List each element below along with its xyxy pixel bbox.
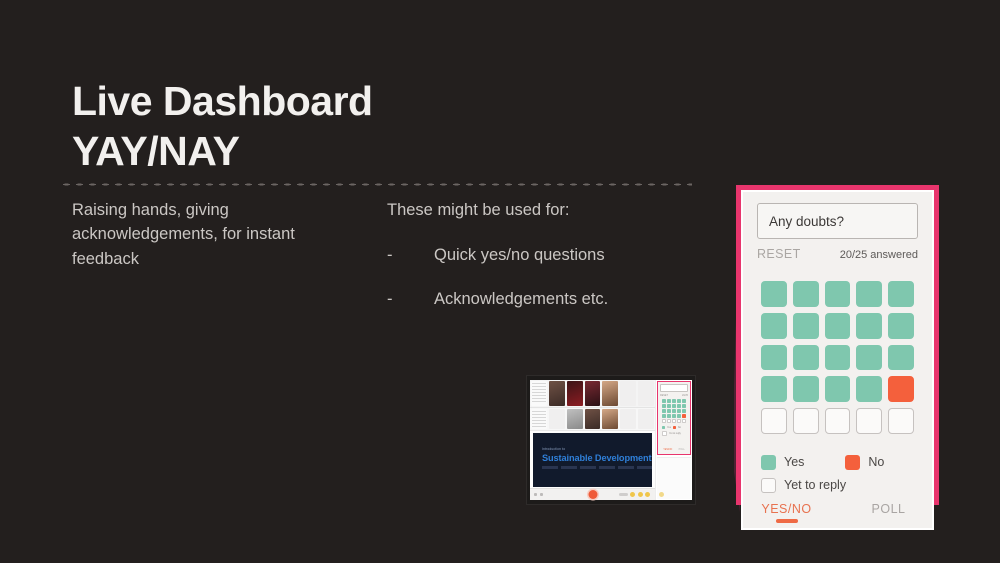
left-paragraph: Raising hands, giving acknowledgements, … (72, 198, 322, 271)
participant-thumbnail (585, 381, 601, 406)
response-cell-yes (856, 281, 882, 307)
response-cell-yes (856, 345, 882, 371)
label-chip (619, 493, 628, 496)
response-cell-yes (793, 345, 819, 371)
thumbnail-placeholder (549, 409, 565, 429)
participant-thumbnail (585, 409, 601, 429)
inset-response-cell (662, 399, 666, 403)
inset-response-cell (672, 419, 676, 423)
inset-response-cell (677, 409, 681, 413)
middle-heading: These might be used for: (387, 198, 647, 222)
response-cell-yes (888, 345, 914, 371)
tab-yes-no[interactable]: YES/NO (752, 502, 822, 516)
bullet-list: - Quick yes/no questions - Acknowledgeme… (387, 244, 647, 312)
inset-response-cell (682, 409, 686, 413)
toolbar-right-icons (619, 492, 651, 497)
inset-legend-swatch-yes (662, 426, 665, 429)
inset-panel-meta: RESET 20/25 (660, 394, 688, 397)
inset-response-cell (682, 414, 686, 418)
response-cell-yes (793, 313, 819, 339)
response-cell-yes (793, 281, 819, 307)
reset-button[interactable]: RESET (757, 247, 801, 261)
page-title: Live Dashboard YAY/NAY (72, 76, 692, 176)
dashboard-panel-inner: Any doubts? RESET 20/25 answered (741, 190, 934, 530)
inset-legend-row: Yes No (662, 426, 686, 429)
participant-thumbnail (602, 409, 618, 429)
legend-item-yes: Yes (761, 455, 804, 470)
legend-item-no: No (845, 455, 884, 470)
response-cell-yes (761, 313, 787, 339)
shared-slide-headline: Sustainable Development (542, 453, 652, 463)
inset-response-cell (677, 414, 681, 418)
shared-slide-subtext (542, 466, 652, 469)
inset-response-cell (667, 414, 671, 418)
tab-active-indicator (776, 519, 798, 523)
inset-legend-label: No (678, 426, 681, 429)
emoji-icon[interactable] (659, 492, 664, 497)
inset-question-input[interactable] (660, 384, 688, 392)
meeting-toolbar[interactable] (530, 488, 655, 500)
response-cell-yes (793, 376, 819, 402)
inset-tab-poll[interactable]: POLL (679, 448, 685, 451)
bullet-label: Quick yes/no questions (434, 244, 605, 268)
thumbnail-placeholder (638, 409, 654, 429)
inset-legend-swatch-pending (662, 431, 667, 436)
legend-label-pending: Yet to reply (784, 478, 846, 492)
response-cell-pending (761, 408, 787, 434)
meeting-sidebar: RESET 20/25 (655, 380, 692, 500)
question-input[interactable]: Any doubts? (757, 203, 918, 239)
response-cell-yes (825, 345, 851, 371)
inset-legend-swatch-no (673, 426, 676, 429)
meeting-sidebar-chat (657, 457, 691, 499)
bullet-label: Acknowledgements etc. (434, 288, 608, 312)
reaction-icon[interactable] (630, 492, 635, 497)
live-dashboard-panel: Any doubts? RESET 20/25 answered (736, 185, 939, 505)
inset-legend-row: Yet to reply (662, 431, 686, 436)
slide-root: Live Dashboard YAY/NAY Raising hands, gi… (0, 0, 1000, 563)
left-column: Raising hands, giving acknowledgements, … (72, 198, 322, 271)
reaction-icon[interactable] (638, 492, 643, 497)
meeting-body: Introduction to Sustainable Development (530, 380, 692, 500)
inset-response-cell (662, 404, 666, 408)
mic-icon[interactable] (534, 493, 537, 496)
bullet-marker: - (387, 288, 434, 312)
legend-item-pending: Yet to reply (761, 478, 846, 493)
inset-response-cell (662, 419, 666, 423)
inset-response-cell (677, 399, 681, 403)
meeting-screenshot-inset: Introduction to Sustainable Development (527, 376, 695, 504)
response-cell-pending (825, 408, 851, 434)
participant-thumbnail (567, 409, 583, 429)
meeting-window: Introduction to Sustainable Development (530, 380, 692, 500)
inset-legend-label: Yes (667, 426, 671, 429)
inset-legend-label: Yet to reply (669, 432, 681, 435)
shared-slide-kicker: Introduction to (542, 447, 565, 451)
response-cell-pending (888, 408, 914, 434)
legend-swatch-pending (761, 478, 776, 493)
tab-yes-no-label: YES/NO (761, 502, 811, 516)
response-cell-yes (856, 376, 882, 402)
dotted-divider (60, 183, 692, 186)
thumbnail-doc (531, 409, 547, 429)
record-button[interactable] (588, 490, 597, 499)
inset-response-cell (667, 409, 671, 413)
legend-label-yes: Yes (784, 455, 804, 469)
shared-slide: Introduction to Sustainable Development (533, 433, 652, 487)
legend-swatch-no (845, 455, 860, 470)
thumbnail-placeholder (620, 409, 636, 429)
response-grid (761, 281, 914, 434)
response-cell-yes (761, 281, 787, 307)
inset-response-cell (672, 404, 676, 408)
response-cell-yes (888, 281, 914, 307)
bullet-marker: - (387, 244, 434, 268)
response-cell-pending (793, 408, 819, 434)
dashboard-meta-row: RESET 20/25 answered (757, 247, 918, 261)
inset-tab-yes-no[interactable]: YES/NO (663, 448, 672, 451)
participant-thumbnail (567, 381, 583, 406)
inset-response-cell (667, 399, 671, 403)
legend: Yes No Yet to reply (761, 455, 914, 501)
inset-response-cell (662, 409, 666, 413)
inset-dashboard-panel[interactable]: RESET 20/25 (657, 381, 691, 455)
reaction-icon[interactable] (645, 492, 650, 497)
inset-response-cell (682, 399, 686, 403)
inset-response-cell (672, 414, 676, 418)
thumbnail-doc (531, 381, 547, 406)
legend-swatch-yes (761, 455, 776, 470)
response-cell-yes (825, 313, 851, 339)
inset-reset-link[interactable]: RESET (660, 394, 668, 397)
list-item: - Acknowledgements etc. (387, 288, 647, 312)
toolbar-left-icons (534, 493, 543, 496)
inset-answered-count: 20/25 (682, 394, 688, 397)
tab-poll-label: POLL (872, 502, 906, 516)
question-input-value: Any doubts? (769, 214, 844, 229)
response-cell-yes (825, 281, 851, 307)
thumbnail-placeholder (638, 381, 654, 406)
inset-response-cell (672, 399, 676, 403)
participant-thumbnail (549, 381, 565, 406)
response-cell-yes (888, 313, 914, 339)
inset-response-cell (672, 409, 676, 413)
legend-row-secondary: Yet to reply (761, 478, 914, 493)
answered-count-label: 20/25 answered (840, 249, 918, 261)
response-cell-pending (856, 408, 882, 434)
inset-response-cell (682, 419, 686, 423)
title-line-2: YAY/NAY (72, 126, 692, 176)
inset-response-cell (662, 414, 666, 418)
inset-response-grid (662, 399, 686, 423)
tab-poll[interactable]: POLL (854, 502, 924, 516)
legend-label-no: No (868, 455, 884, 469)
response-cell-yes (761, 345, 787, 371)
inset-response-cell (682, 404, 686, 408)
title-line-1: Live Dashboard (72, 76, 692, 126)
list-item: - Quick yes/no questions (387, 244, 647, 268)
response-cell-yes (761, 376, 787, 402)
thumbnail-placeholder (620, 381, 636, 406)
middle-column: These might be used for: - Quick yes/no … (387, 198, 647, 332)
legend-row-primary: Yes No (761, 455, 914, 470)
tab-bar: YES/NO POLL (757, 501, 918, 528)
participant-thumbnail-row (530, 380, 655, 408)
participant-thumbnail (602, 381, 618, 406)
response-cell-no (888, 376, 914, 402)
meeting-stage: Introduction to Sustainable Development (530, 380, 655, 500)
inset-response-cell (677, 419, 681, 423)
inset-response-cell (677, 404, 681, 408)
response-cell-yes (856, 313, 882, 339)
camera-icon[interactable] (540, 493, 543, 496)
inset-response-cell (667, 404, 671, 408)
participant-thumbnail-row-2 (530, 408, 655, 431)
inset-tab-bar: YES/NO POLL (660, 448, 688, 452)
inset-response-cell (667, 419, 671, 423)
response-cell-yes (825, 376, 851, 402)
